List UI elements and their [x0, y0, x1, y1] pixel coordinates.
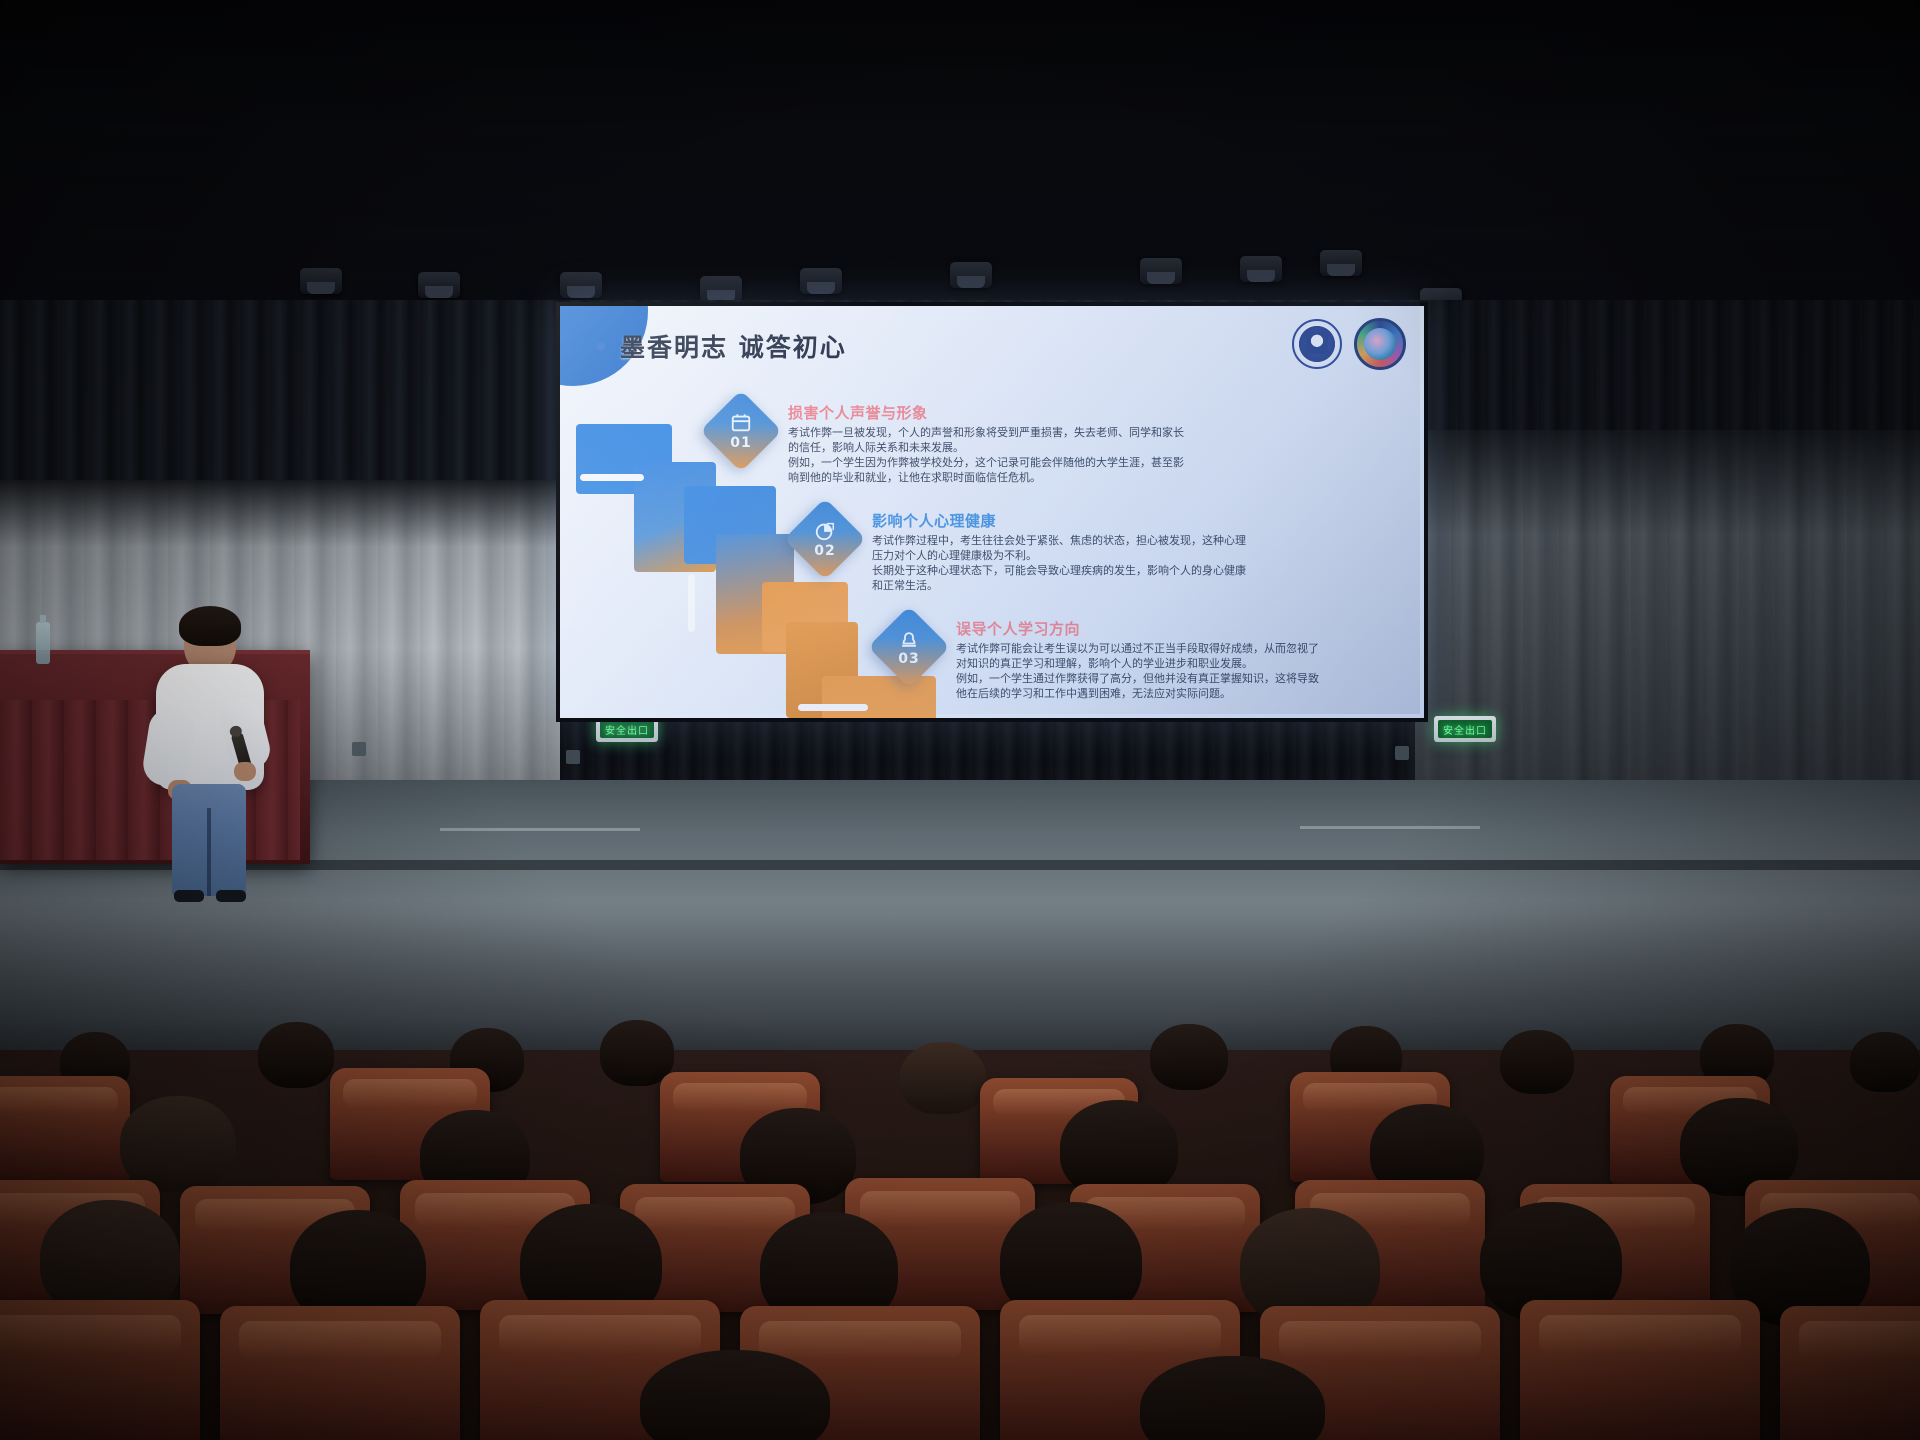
section-line: 响到他的毕业和就业，让他在求职时面临信任危机。 — [788, 470, 1184, 485]
stage-light — [700, 276, 742, 302]
stage-light — [1240, 256, 1282, 282]
deco-stripe — [798, 704, 868, 711]
calendar-icon — [730, 412, 752, 434]
section-line: 考试作弊一旦被发现，个人的声誉和形象将受到严重损害，失去老师、同学和家长 — [788, 425, 1184, 440]
pie-chart-icon — [814, 520, 836, 542]
exit-sign: 安全出口 — [1434, 716, 1496, 742]
wall-plate — [566, 750, 580, 764]
section-number: 03 — [898, 651, 919, 667]
audience-head — [600, 1020, 674, 1086]
presenter-shoe — [216, 890, 246, 902]
floor-marking — [440, 828, 640, 831]
slide-title: 墨香明志 诚答初心 — [620, 328, 847, 364]
section-text: 误导个人学习方向 考试作弊可能会让考生误以为可以通过不正当手段取得好成绩，从而忽… — [956, 618, 1319, 701]
section-text: 损害个人声誉与形象 考试作弊一旦被发现，个人的声誉和形象将受到严重损害，失去老师… — [788, 402, 1184, 485]
presenter-shoe — [174, 890, 204, 902]
slide-section-02: 02 影响个人心理健康 考试作弊过程中，考生往往会处于紧张、焦虑的状态，担心被发… — [796, 510, 1246, 593]
section-heading: 损害个人声誉与形象 — [788, 402, 1184, 423]
exit-sign-label: 安全出口 — [1438, 720, 1492, 738]
stage-light — [418, 272, 460, 298]
stage-light — [560, 272, 602, 298]
slide-content: 墨香明志 诚答初心 — [560, 306, 1424, 718]
presenter-hand-right — [234, 762, 256, 781]
audience-seat — [0, 1076, 130, 1182]
section-line: 考试作弊过程中，考生往往会处于紧张、焦虑的状态，担心被发现，这种心理 — [872, 533, 1246, 548]
floor-marking — [1300, 826, 1480, 829]
section-text: 影响个人心理健康 考试作弊过程中，考生往往会处于紧张、焦虑的状态，担心被发现，这… — [872, 510, 1246, 593]
slide-section-01: 01 损害个人声誉与形象 考试作弊一旦被发现，个人的声誉和形象将受到严重损害，失… — [712, 402, 1184, 485]
audience-head — [120, 1096, 236, 1192]
title-bullet-icon — [596, 342, 605, 351]
section-line: 的信任，影响人际关系和未来发展。 — [788, 440, 1184, 455]
stage-light — [300, 268, 342, 294]
audience-head — [640, 1350, 830, 1440]
section-badge-content: 01 — [712, 402, 770, 460]
presenter-jeans — [172, 784, 246, 896]
section-line: 考试作弊可能会让考生误以为可以通过不正当手段取得好成绩，从而忽视了 — [956, 641, 1319, 656]
auditorium-photo: 安全出口 安全出口 墨香明志 诚答初心 — [0, 0, 1920, 1440]
section-line: 例如，一个学生通过作弊获得了高分，但他并没有真正掌握知识，这将导致 — [956, 671, 1319, 686]
audience-area — [0, 1050, 1920, 1440]
stage-light — [1140, 258, 1182, 284]
audience-head — [1500, 1030, 1574, 1094]
stage-light — [950, 262, 992, 288]
exit-sign-label: 安全出口 — [600, 720, 654, 738]
section-line: 对知识的真正学习和理解，影响个人的学业进步和职业发展。 — [956, 656, 1319, 671]
ceiling — [0, 0, 1920, 300]
audience-head — [258, 1022, 334, 1088]
water-bottle — [36, 622, 50, 664]
institution-badge-logo — [1354, 318, 1406, 370]
logo-group — [1292, 318, 1406, 370]
audience-head — [900, 1042, 986, 1114]
section-badge: 03 — [868, 606, 950, 688]
presenter — [148, 612, 274, 892]
section-line: 压力对个人的心理健康极为不利。 — [872, 548, 1246, 563]
audience-seat — [220, 1306, 460, 1440]
section-line: 他在后续的学习和工作中遇到困难，无法应对实际问题。 — [956, 686, 1319, 701]
audience-head — [1850, 1032, 1920, 1092]
section-heading: 影响个人心理健康 — [872, 510, 1246, 531]
audience-head — [1150, 1024, 1228, 1090]
section-badge: 01 — [700, 390, 782, 472]
stage-light — [800, 268, 842, 294]
section-heading: 误导个人学习方向 — [956, 618, 1319, 639]
section-badge: 02 — [784, 498, 866, 580]
section-badge-content: 02 — [796, 510, 854, 568]
section-number: 02 — [814, 543, 835, 559]
section-number: 01 — [730, 435, 751, 451]
audience-seat — [1520, 1300, 1760, 1440]
stage-light — [1320, 250, 1362, 276]
university-seal-logo — [1292, 319, 1342, 369]
slide-section-03: 03 误导个人学习方向 考试作弊可能会让考生误以为可以通过不正当手段取得好成绩，… — [880, 618, 1319, 701]
wall-plate — [1395, 746, 1409, 760]
bell-icon — [898, 628, 920, 650]
presenter-hair — [179, 606, 241, 646]
deco-stripe — [580, 474, 644, 481]
section-badge-content: 03 — [880, 618, 938, 676]
audience-seat — [1780, 1306, 1920, 1440]
section-line: 例如，一个学生因为作弊被学校处分，这个记录可能会伴随他的大学生涯，甚至影 — [788, 455, 1184, 470]
wall-plate — [352, 742, 366, 756]
section-line: 长期处于这种心理状态下，可能会导致心理疾病的发生，影响个人的身心健康 — [872, 563, 1246, 578]
audience-seat — [0, 1300, 200, 1440]
section-line: 和正常生活。 — [872, 578, 1246, 593]
projection-screen: 墨香明志 诚答初心 — [556, 302, 1428, 722]
deco-stripe — [688, 574, 695, 632]
